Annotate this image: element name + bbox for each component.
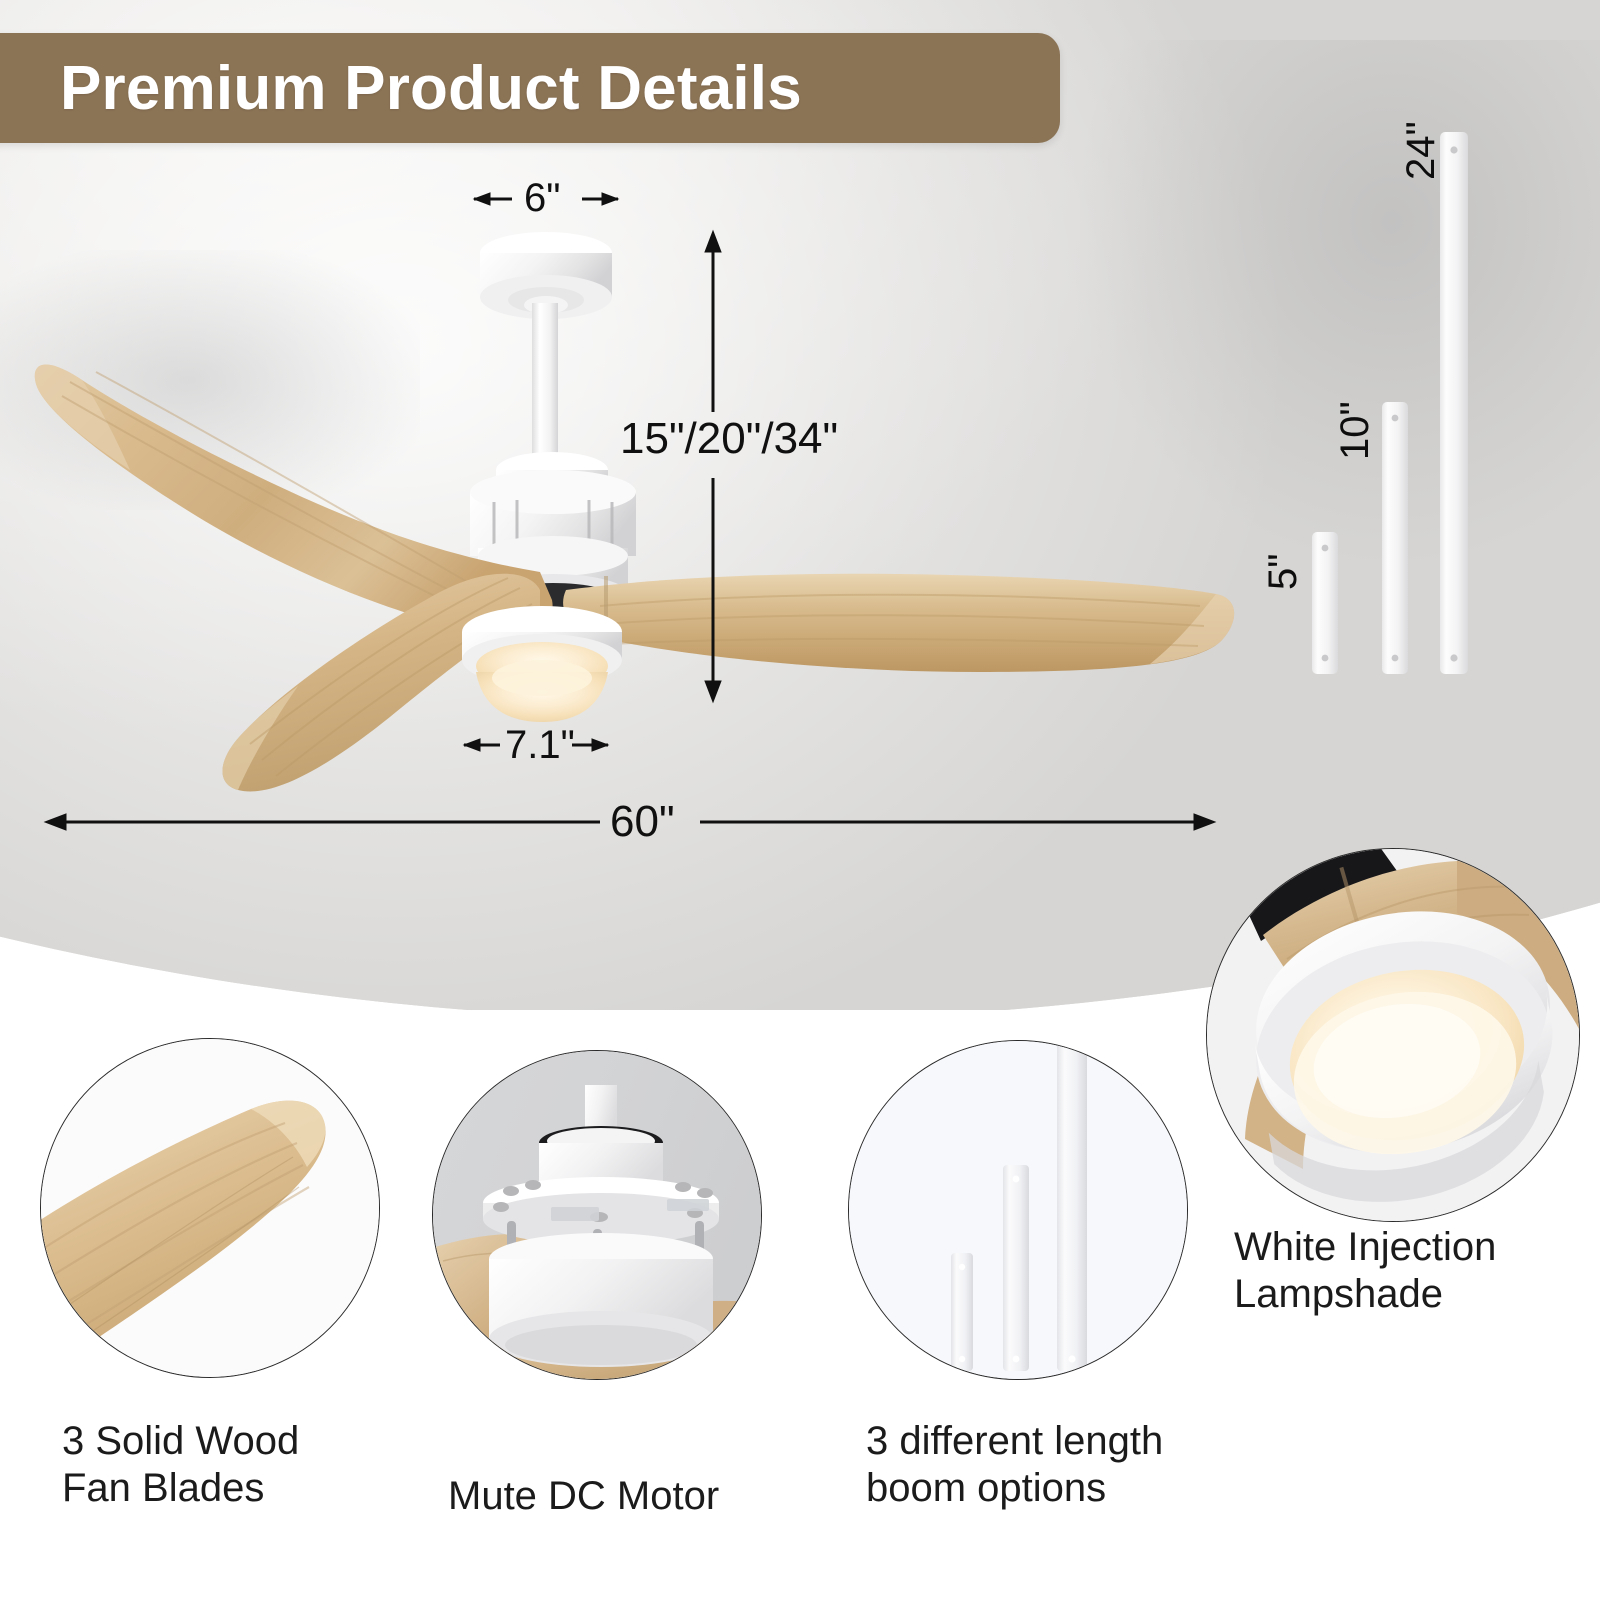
feature-caption-solid-wood-blades: 3 Solid Wood Fan Blades [62, 1418, 299, 1512]
feature-caption-boom-options: 3 different length boom options [866, 1418, 1163, 1512]
boom-rod-short [951, 1253, 973, 1371]
caption-line-2: Fan Blades [62, 1465, 299, 1512]
caption-line-2: boom options [866, 1465, 1163, 1512]
header-banner: Premium Product Details [0, 33, 1060, 143]
feature-circle-mute-dc-motor [432, 1050, 762, 1380]
caption-line-1: 3 different length [866, 1418, 1163, 1465]
boom-rod-long [1057, 1041, 1087, 1371]
feature-circle-boom-options [848, 1040, 1188, 1380]
boom-rod-medium [1003, 1165, 1029, 1371]
caption-line-1: 3 Solid Wood [62, 1418, 299, 1465]
downrod-label-10in: 10" [1333, 401, 1378, 460]
downrod-label-24in: 24" [1399, 121, 1444, 180]
dimension-label-downrod-heights: 15"/20"/34" [620, 414, 838, 464]
page-title: Premium Product Details [60, 53, 802, 124]
caption-line-1: White Injection [1234, 1224, 1496, 1271]
feature-circle-white-lampshade [1206, 848, 1580, 1222]
feature-caption-mute-dc-motor: Mute DC Motor [448, 1473, 719, 1520]
product-detail-infographic: Premium Product Details 6" 15"/20"/34" 7… [0, 0, 1600, 1600]
dimension-label-blade-span: 60" [610, 797, 675, 847]
caption-line-1: Mute DC Motor [448, 1473, 719, 1520]
dimension-label-canopy-width: 6" [524, 176, 560, 221]
ceiling-sheen [0, 0, 1300, 1090]
downrod-label-5in: 5" [1261, 554, 1306, 590]
dimension-label-light-kit-height: 7.1" [505, 723, 575, 768]
feature-circle-solid-wood-blades [40, 1038, 380, 1378]
caption-line-2: Lampshade [1234, 1271, 1496, 1318]
ceiling-corner-shadow [1080, 40, 1600, 560]
feature-caption-white-lampshade: White Injection Lampshade [1234, 1224, 1496, 1318]
fan-cast-shadow [0, 250, 420, 510]
